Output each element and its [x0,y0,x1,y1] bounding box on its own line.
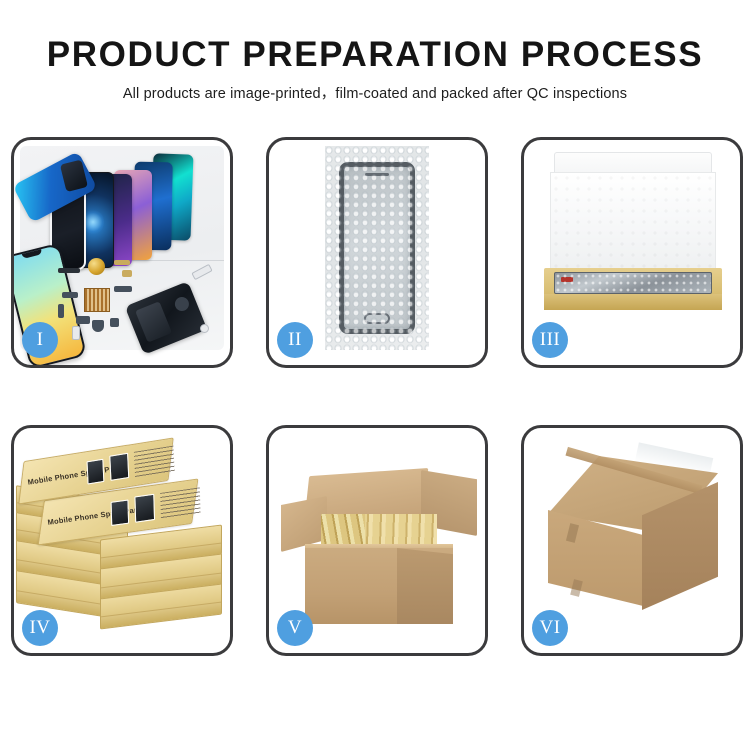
page-subtitle: All products are image-printed，film-coat… [0,84,750,104]
connector-part-icon [62,292,78,298]
bubble-wrap-sheet [325,146,429,350]
step-badge-4: IV [22,610,58,646]
carton-body-icon [305,548,453,624]
flex-cable-part-icon [114,260,130,265]
box-artwork-screen-icon [111,499,130,526]
step-panel-open-carton-with-boxes: V [266,425,488,656]
connector-part-icon [58,304,64,318]
step-panel-stacked-retail-boxes: Mobile Phone Spare Parts Mobile Phone Sp… [11,425,233,656]
kraft-box-front-panel [544,294,722,310]
sim-tray-part-icon [72,326,80,340]
speaker-part-icon [92,320,104,332]
part-strip-icon [58,268,80,273]
earpiece-slot-icon [365,173,389,176]
step-image-open-carton-with-boxes: V [269,428,485,653]
ribbon-part-icon [114,286,132,292]
step-badge-1: I [22,322,58,358]
step-panel-boxed-screen-with-foam: III [521,137,743,368]
process-steps-grid: I II [11,137,744,656]
box-artwork-screen-icon [109,453,129,481]
step-badge-3: III [532,322,568,358]
kraft-box-base-icon [544,268,722,310]
step-image-boxed-screen-with-foam: III [524,140,740,365]
step-panel-sealed-shipping-carton: VI [521,425,743,656]
carton-body-side-icon [397,548,453,624]
step-panel-raw-parts-and-screens: I [11,137,233,368]
white-foam-padding-icon [550,172,716,274]
box-spec-lines [160,487,200,519]
step-image-raw-parts-and-screens: I [14,140,230,365]
camera-part-icon [110,318,119,327]
step-panel-bubble-wrapped-screen: II [266,137,488,368]
step-badge-5: V [277,610,313,646]
step-image-bubble-wrapped-screen: II [269,140,485,365]
flex-cable-part-icon [122,270,132,277]
product-preparation-infographic: PRODUCT PREPARATION PROCESS All products… [0,0,750,750]
step-badge-2: II [277,322,313,358]
box-label-text: Mobile Phone Spare Parts [47,504,145,526]
step-image-stacked-retail-boxes: Mobile Phone Spare Parts Mobile Phone Sp… [14,428,230,653]
header: PRODUCT PREPARATION PROCESS All products… [0,34,750,104]
wrapped-screen-in-box-icon [554,272,712,294]
wrapped-screen-icon [339,162,415,334]
gold-coil-part-icon [88,258,105,275]
box-spec-lines [134,446,175,478]
box-artwork-screen-icon [87,459,105,485]
step-image-sealed-shipping-carton: VI [524,428,740,653]
step-badge-6: VI [532,610,568,646]
screw-part-icon [200,324,209,333]
home-button-icon [364,313,390,324]
small-chip-part-icon [76,316,90,324]
page-title: PRODUCT PREPARATION PROCESS [0,34,750,76]
box-artwork-screen-icon [134,494,155,523]
red-label-tab-icon [561,277,573,282]
connector-pad-grid-icon [84,288,110,312]
